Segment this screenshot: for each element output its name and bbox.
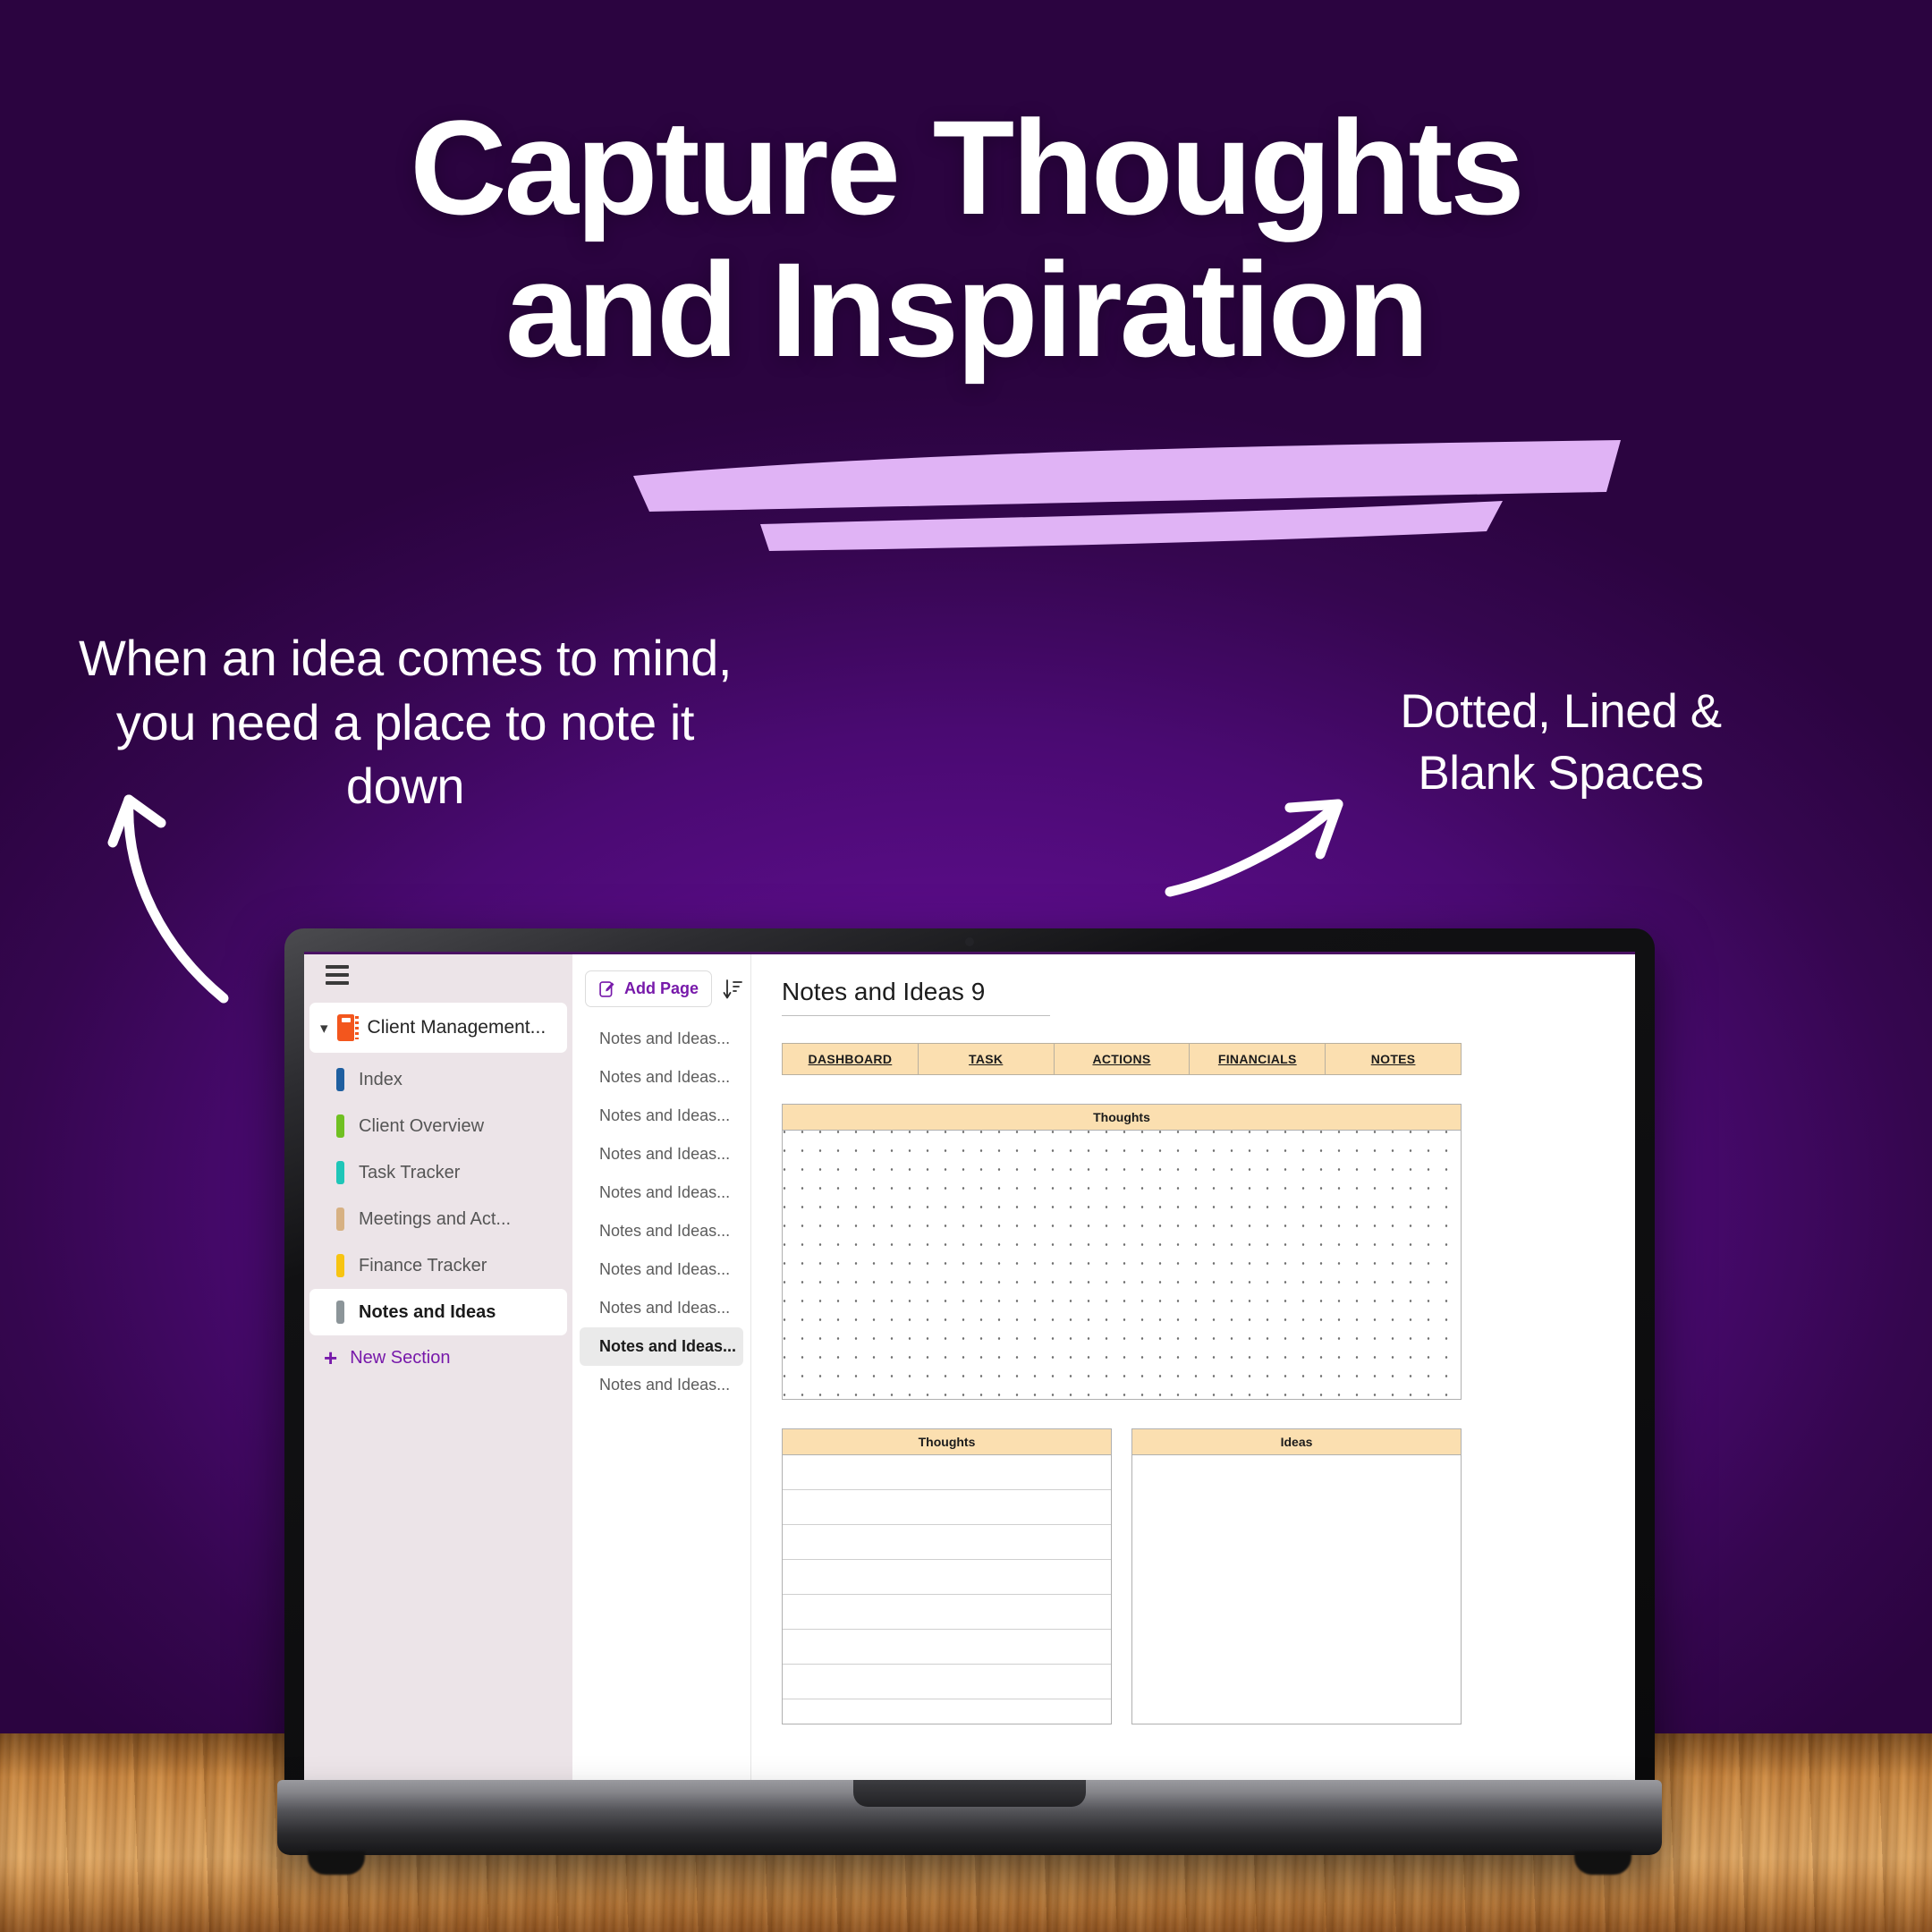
list-item[interactable]: Notes and Ideas... bbox=[580, 1212, 743, 1250]
sidebar-item-notes-and-ideas[interactable]: Notes and Ideas bbox=[309, 1289, 567, 1335]
list-item[interactable]: Notes and Ideas... bbox=[580, 1058, 743, 1097]
section-color-swatch bbox=[336, 1114, 344, 1138]
section-list: Index Client Overview Task Tracker bbox=[304, 1053, 572, 1380]
page-list-header: Add Page bbox=[572, 965, 750, 1020]
sidebar-item-label: Notes and Ideas bbox=[359, 1302, 496, 1323]
list-item[interactable]: Notes and Ideas... bbox=[580, 1250, 743, 1289]
new-section-button[interactable]: + New Section bbox=[304, 1335, 572, 1380]
list-item[interactable]: Notes and Ideas... bbox=[580, 1174, 743, 1212]
add-page-label: Add Page bbox=[624, 979, 699, 998]
section-color-swatch bbox=[336, 1161, 344, 1184]
tab-financials[interactable]: FINANCIALS bbox=[1190, 1043, 1326, 1075]
section-color-swatch bbox=[336, 1207, 344, 1231]
new-section-label: New Section bbox=[350, 1348, 450, 1368]
sidebar-item-task-tracker[interactable]: Task Tracker bbox=[309, 1149, 567, 1196]
section-color-swatch bbox=[336, 1301, 344, 1324]
panel-title: Ideas bbox=[1132, 1429, 1461, 1455]
arrow-left-icon bbox=[107, 787, 277, 1020]
notebook-header[interactable]: ▾ Client Management... bbox=[309, 1003, 567, 1053]
sidebar-item-label: Index bbox=[359, 1070, 402, 1090]
sidebar-item-label: Finance Tracker bbox=[359, 1256, 487, 1276]
section-color-swatch bbox=[336, 1068, 344, 1091]
sidebar-item-finance-tracker[interactable]: Finance Tracker bbox=[309, 1242, 567, 1289]
list-item-selected[interactable]: Notes and Ideas... bbox=[580, 1327, 743, 1366]
panel-title: Thoughts bbox=[783, 1429, 1111, 1455]
tab-actions[interactable]: ACTIONS bbox=[1055, 1043, 1191, 1075]
ideas-blank-panel: Ideas bbox=[1131, 1428, 1462, 1724]
list-item[interactable]: Notes and Ideas... bbox=[580, 1020, 743, 1058]
hamburger-menu-button[interactable] bbox=[304, 954, 572, 999]
laptop-foot-right bbox=[1574, 1851, 1631, 1875]
notebook-icon bbox=[337, 1014, 359, 1041]
list-item[interactable]: Notes and Ideas... bbox=[580, 1097, 743, 1135]
sidebar-item-client-overview[interactable]: Client Overview bbox=[309, 1103, 567, 1149]
page-title: Capture Thoughts and Inspiration bbox=[0, 97, 1932, 381]
document-canvas: Notes and Ideas 9 DASHBOARD TASK ACTIONS… bbox=[751, 954, 1635, 1784]
page-list-column: Add Page Notes and Ideas... Notes and Id… bbox=[572, 954, 751, 1784]
list-item[interactable]: Notes and Ideas... bbox=[580, 1366, 743, 1404]
thoughts-lined-panel: Thoughts bbox=[782, 1428, 1112, 1724]
callout-right-text: Dotted, Lined &Blank Spaces bbox=[1310, 682, 1811, 805]
tab-notes[interactable]: NOTES bbox=[1326, 1043, 1462, 1075]
laptop-mockup: ▾ Client Management... Index bbox=[277, 928, 1662, 1894]
poster-canvas: Capture Thoughts and Inspiration When an… bbox=[0, 0, 1932, 1932]
sidebar-item-label: Task Tracker bbox=[359, 1163, 460, 1183]
sidebar-item-meetings-and-actions[interactable]: Meetings and Act... bbox=[309, 1196, 567, 1242]
section-color-swatch bbox=[336, 1254, 344, 1277]
laptop-lid: ▾ Client Management... Index bbox=[284, 928, 1655, 1789]
list-item[interactable]: Notes and Ideas... bbox=[580, 1135, 743, 1174]
notebook-title: Client Management... bbox=[368, 1017, 547, 1038]
sidebar-sections-column: ▾ Client Management... Index bbox=[304, 954, 572, 1784]
add-page-button[interactable]: Add Page bbox=[585, 970, 712, 1007]
hamburger-menu-icon bbox=[326, 965, 349, 989]
chevron-down-icon: ▾ bbox=[320, 1021, 328, 1036]
headline-line-2: and Inspiration bbox=[0, 239, 1932, 381]
arrow-right-icon bbox=[1163, 756, 1360, 899]
sidebar-item-label: Client Overview bbox=[359, 1116, 484, 1137]
brush-underline-decoration bbox=[626, 438, 1628, 555]
laptop-screen: ▾ Client Management... Index bbox=[304, 952, 1635, 1784]
document-nav-tabs: DASHBOARD TASK ACTIONS FINANCIALS NOTES bbox=[782, 1043, 1462, 1075]
list-item[interactable]: Notes and Ideas... bbox=[580, 1289, 743, 1327]
sidebar-item-index[interactable]: Index bbox=[309, 1056, 567, 1103]
laptop-foot-left bbox=[308, 1851, 365, 1875]
headline-line-1: Capture Thoughts bbox=[410, 92, 1522, 242]
sort-descending-icon[interactable] bbox=[723, 979, 742, 1000]
lined-writing-area[interactable] bbox=[783, 1455, 1111, 1724]
laptop-front-notch bbox=[853, 1780, 1086, 1807]
blank-writing-area[interactable] bbox=[1132, 1455, 1461, 1724]
sidebar-item-label: Meetings and Act... bbox=[359, 1209, 511, 1230]
dotted-writing-area[interactable] bbox=[783, 1131, 1461, 1399]
tab-task[interactable]: TASK bbox=[919, 1043, 1055, 1075]
bottom-panels-row: Thoughts Ideas bbox=[782, 1428, 1462, 1724]
edit-page-icon bbox=[598, 980, 616, 998]
plus-icon: + bbox=[324, 1346, 337, 1369]
panel-title: Thoughts bbox=[783, 1105, 1461, 1131]
thoughts-dotted-panel: Thoughts bbox=[782, 1104, 1462, 1400]
document-title[interactable]: Notes and Ideas 9 bbox=[782, 978, 1050, 1016]
tab-dashboard[interactable]: DASHBOARD bbox=[782, 1043, 919, 1075]
